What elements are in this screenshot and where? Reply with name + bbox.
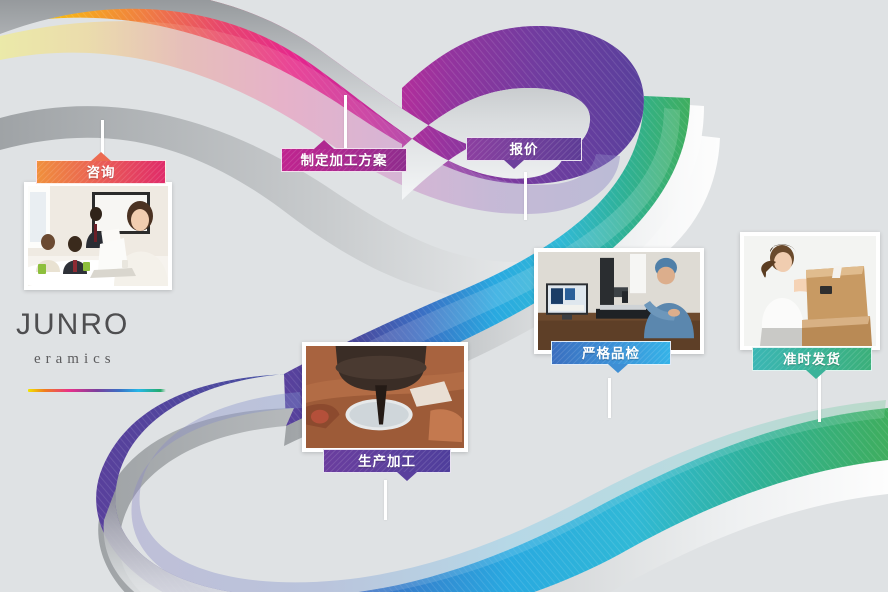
business-meeting-photo — [28, 186, 168, 286]
photo-card-inspection — [534, 248, 704, 354]
step-label-text: 制定加工方案 — [301, 153, 388, 168]
stem-production — [384, 480, 387, 520]
step-label-quote[interactable]: 报价 — [466, 137, 582, 161]
stem-quote — [524, 172, 527, 220]
step-label-production[interactable]: 生产加工 — [323, 449, 451, 473]
photo-card-production — [302, 342, 468, 452]
stem-inspection — [608, 378, 611, 418]
brand-logo: JUNRO eramics — [16, 310, 196, 392]
photo-card-consult — [24, 182, 172, 290]
step-label-text: 报价 — [510, 142, 539, 157]
step-label-consult[interactable]: 咨询 — [36, 160, 166, 184]
label-tab-up-icon — [91, 152, 111, 161]
label-tab-up-icon — [314, 140, 334, 149]
step-label-inspection[interactable]: 严格品检 — [551, 341, 671, 365]
cnc-drilling-photo — [306, 346, 464, 448]
packing-boxes-photo — [744, 236, 876, 346]
label-tab-down-icon — [397, 472, 417, 481]
process-flow-infographic: JUNRO eramics — [0, 0, 888, 592]
step-label-text: 生产加工 — [358, 454, 416, 469]
step-label-text: 严格品检 — [582, 346, 640, 361]
stem-plan — [344, 95, 347, 150]
label-tab-down-icon — [504, 160, 524, 169]
step-label-text: 咨询 — [87, 165, 116, 180]
label-tab-down-icon — [806, 370, 826, 379]
label-tab-down-icon — [608, 364, 628, 373]
step-label-text: 准时发货 — [783, 352, 841, 367]
brand-gradient-rule — [28, 389, 166, 392]
brand-name: JUNRO — [16, 310, 196, 340]
brand-tagline: eramics — [34, 352, 196, 367]
step-label-shipping[interactable]: 准时发货 — [752, 347, 872, 371]
photo-card-shipping — [740, 232, 880, 350]
quality-inspection-photo — [538, 252, 700, 350]
step-label-plan[interactable]: 制定加工方案 — [281, 148, 407, 172]
